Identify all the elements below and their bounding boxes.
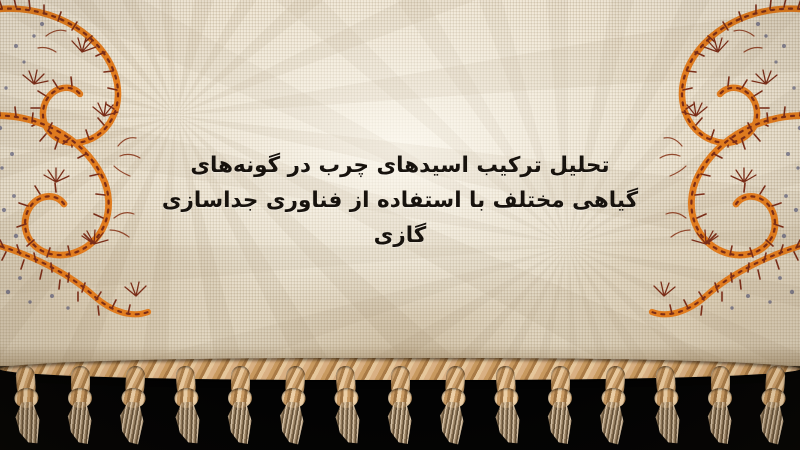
tassel xyxy=(486,365,527,447)
tassel-skirt xyxy=(704,402,736,444)
tassel xyxy=(326,365,367,447)
title-line-1: تحلیل ترکیب اسیدهای چرب در گونه‌های xyxy=(160,148,640,183)
tassel-skirt xyxy=(544,402,576,444)
tassel xyxy=(542,366,578,446)
tassel-fringe xyxy=(0,366,800,450)
tassel xyxy=(646,365,687,447)
tassel-skirt xyxy=(115,401,150,445)
tassel-skirt xyxy=(10,401,45,445)
slide-title: تحلیل ترکیب اسیدهای چرب در گونه‌های گیاه… xyxy=(160,148,640,253)
tassel xyxy=(702,366,738,446)
tassel xyxy=(433,365,474,447)
tassel-skirt xyxy=(435,401,470,445)
tassel xyxy=(382,366,418,446)
tassel-skirt xyxy=(224,402,256,444)
slide-canvas: تحلیل ترکیب اسیدهای چرب در گونه‌های گیاه… xyxy=(0,0,800,450)
title-line-2: گیاهی مختلف با استفاده از فناوری جداسازی xyxy=(160,183,640,218)
tassel-skirt xyxy=(755,401,790,445)
tassel-skirt xyxy=(650,401,685,445)
title-line-3: گازی xyxy=(160,218,640,253)
tassel xyxy=(753,365,794,447)
tassel xyxy=(62,366,98,446)
tassel-skirt xyxy=(490,401,525,445)
tassel-skirt xyxy=(595,401,630,445)
tassel xyxy=(222,366,258,446)
tassel xyxy=(273,365,314,447)
tassel xyxy=(6,365,47,447)
tassel-skirt xyxy=(384,402,416,444)
tassel xyxy=(113,365,154,447)
tassel-skirt xyxy=(275,401,310,445)
tassel-skirt xyxy=(170,401,205,445)
tassel-skirt xyxy=(330,401,365,445)
tassel xyxy=(166,365,207,447)
tassel xyxy=(593,365,634,447)
tassel-skirt xyxy=(64,402,96,444)
